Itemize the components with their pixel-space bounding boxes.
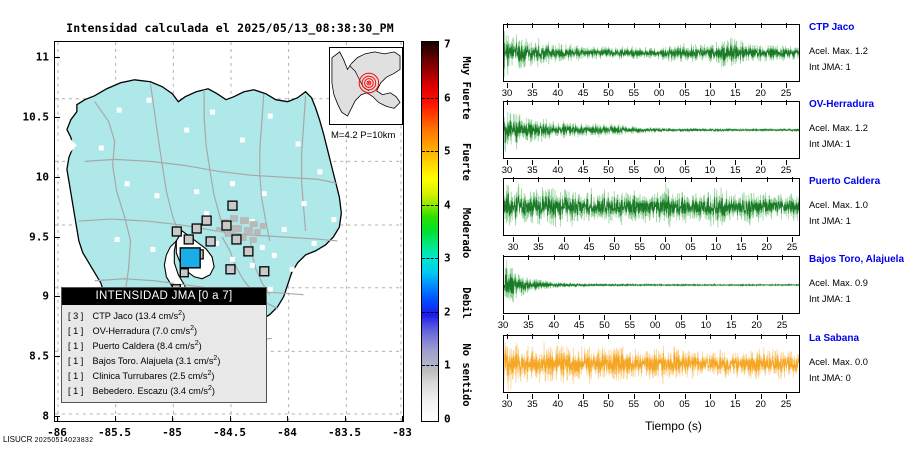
- epicenter-station-marker: [180, 248, 200, 268]
- time-tick-mark: [640, 177, 641, 182]
- legend-row: [ 1 ] Bebedero. Escazu (3.4 cm/s2): [68, 383, 260, 398]
- map-y-tick: 10.5: [23, 110, 50, 123]
- colorbar-tick-dash: [422, 205, 438, 206]
- legend-value: (3.1 cm/s: [176, 356, 214, 366]
- station-jma-intensity: Int JMA: 1: [809, 139, 851, 149]
- legend-row: [ 1 ] OV-Herradura (7.0 cm/s2): [68, 323, 260, 338]
- inset-canvas: [330, 48, 402, 124]
- map-x-tick: -85.5: [98, 426, 131, 439]
- waveform-trace: [504, 25, 799, 81]
- map-y-tick: 8: [42, 410, 49, 423]
- waveform-trace: [504, 179, 799, 235]
- time-tick-mark: [583, 23, 584, 28]
- legend-row: [ 3 ] CTP Jaco (13.4 cm/s2): [68, 308, 260, 323]
- intensity-legend: INTENSIDAD JMA [0 a 7] [ 3 ] CTP Jaco (1…: [61, 287, 267, 403]
- time-tick-label: 30: [502, 399, 513, 410]
- map-x-tick: -83.5: [328, 426, 361, 439]
- time-tick-label: 50: [603, 399, 614, 410]
- colorbar-tick: 6: [444, 91, 451, 104]
- seismogram-panel[interactable]: [503, 256, 800, 314]
- station-name[interactable]: Bajos Toro, Alajuela: [809, 254, 904, 265]
- station-max-acceleration: Acel. Max. 1.2: [809, 46, 868, 56]
- map-y-tick: 9: [42, 290, 49, 303]
- waveform-trace: [504, 102, 799, 158]
- time-axis-top: [499, 246, 796, 260]
- colorbar-tick: 1: [444, 359, 451, 372]
- station-name[interactable]: OV-Herradura: [809, 99, 874, 110]
- time-tick-mark: [608, 23, 609, 28]
- station-name[interactable]: CTP Jaco: [809, 22, 854, 33]
- legend-row: [ 1 ] Puerto Caldera (8.4 cm/s2): [68, 338, 260, 353]
- time-axis-top: [503, 325, 800, 339]
- colorbar-tick: 0: [444, 413, 451, 426]
- time-tick-mark: [757, 255, 758, 260]
- time-tick-mark: [532, 100, 533, 105]
- time-tick-mark: [665, 177, 666, 182]
- colorbar-tick-dash: [422, 98, 438, 99]
- time-tick-mark: [691, 177, 692, 182]
- time-tick-mark: [532, 23, 533, 28]
- time-tick-mark: [659, 334, 660, 339]
- time-tick-mark: [528, 255, 529, 260]
- time-tick-mark: [507, 100, 508, 105]
- station-max-acceleration: Acel. Max. 0.0: [809, 357, 868, 367]
- time-tick-mark: [630, 255, 631, 260]
- station-name[interactable]: La Sabana: [809, 333, 859, 344]
- colorbar-tick-dash: [422, 151, 438, 152]
- waveform-trace: [504, 257, 799, 313]
- legend-row: [ 1 ] Bajos Toro. Alajuela (3.1 cm/s2): [68, 353, 260, 368]
- time-tick-mark: [681, 255, 682, 260]
- waveform-trace: [504, 336, 799, 392]
- time-tick-mark: [782, 255, 783, 260]
- map-y-tick: 10: [36, 170, 49, 183]
- legend-value-tail: ): [211, 371, 214, 381]
- time-tick-mark: [583, 334, 584, 339]
- time-tick-mark: [767, 177, 768, 182]
- legend-count: [ 1 ]: [68, 370, 90, 383]
- station-max-acceleration: Acel. Max. 1.0: [809, 200, 868, 210]
- time-tick-mark: [786, 334, 787, 339]
- map-y-tick: 9.5: [29, 230, 49, 243]
- legend-station-name: Bajos Toro. Alajuela: [90, 356, 176, 366]
- page-title: Intensidad calculada el 2025/05/13_08:38…: [55, 21, 405, 35]
- colorbar-tick: 4: [444, 198, 451, 211]
- legend-count: [ 1 ]: [68, 340, 90, 353]
- time-tick-mark: [710, 100, 711, 105]
- colorbar-category: Moderado: [460, 207, 472, 258]
- time-tick-mark: [564, 177, 565, 182]
- intensity-colorbar: 76543210Muy FuerteFuerteModeradoDebilNo …: [421, 41, 439, 422]
- time-tick-label: 20: [755, 399, 766, 410]
- time-tick-mark: [786, 23, 787, 28]
- time-tick-mark: [507, 334, 508, 339]
- time-tick-mark: [659, 100, 660, 105]
- colorbar-tick: 5: [444, 145, 451, 158]
- time-tick-mark: [735, 23, 736, 28]
- time-tick-mark: [608, 334, 609, 339]
- time-tick-label: 05: [679, 399, 690, 410]
- time-tick-mark: [538, 177, 539, 182]
- legend-row: [ 1 ] Clinica Turrubares (2.5 cm/s2): [68, 368, 260, 383]
- time-axis-top: [503, 91, 800, 105]
- legend-value: (8.4 cm/s: [157, 341, 195, 351]
- time-axis-label: Tiempo (s): [645, 419, 702, 433]
- colorbar-tick: 2: [444, 305, 451, 318]
- map-x-tick: -85: [162, 426, 182, 439]
- watermark-id: 20250514023832: [35, 437, 94, 444]
- legend-header: INTENSIDAD JMA [0 a 7]: [62, 288, 266, 305]
- station-jma-intensity: Int JMA: 1: [809, 216, 851, 226]
- colorbar-category: Fuerte: [460, 143, 472, 181]
- station-jma-intensity: Int JMA: 1: [809, 294, 851, 304]
- time-tick-mark: [731, 255, 732, 260]
- time-tick-mark: [608, 100, 609, 105]
- legend-count: [ 1 ]: [68, 325, 90, 338]
- time-tick-mark: [761, 100, 762, 105]
- time-tick-label: 10: [705, 399, 716, 410]
- time-tick-mark: [634, 23, 635, 28]
- legend-value-tail: ): [212, 386, 215, 396]
- map-y-tick: 8.5: [29, 350, 49, 363]
- legend-value-tail: ): [199, 341, 202, 351]
- time-tick-label: 15: [730, 399, 741, 410]
- legend-station-name: CTP Jaco: [90, 311, 135, 321]
- intensity-map[interactable]: M=4.2 P=10km INTENSIDAD JMA [0 a 7] [ 3 …: [54, 41, 404, 422]
- time-tick-mark: [659, 23, 660, 28]
- watermark: LISUCR 20250514023832: [3, 435, 93, 444]
- legend-station-name: Clinica Turrubares: [90, 371, 170, 381]
- seismogram-panel[interactable]: [503, 178, 800, 236]
- legend-count: [ 1 ]: [68, 385, 90, 398]
- location-inset-map: [329, 47, 403, 125]
- time-tick-mark: [589, 177, 590, 182]
- time-tick-mark: [634, 100, 635, 105]
- station-max-acceleration: Acel. Max. 1.2: [809, 123, 868, 133]
- legend-value: (3.4 cm/s: [170, 386, 208, 396]
- legend-list: [ 3 ] CTP Jaco (13.4 cm/s2)[ 1 ] OV-Herr…: [62, 305, 266, 402]
- map-y-tick: 11: [36, 51, 49, 64]
- colorbar-category: Muy Fuerte: [460, 56, 472, 119]
- station-max-acceleration: Acel. Max. 0.9: [809, 278, 868, 288]
- time-tick-mark: [792, 177, 793, 182]
- colorbar-tick: 3: [444, 252, 451, 265]
- legend-value-tail: ): [182, 311, 185, 321]
- time-tick-mark: [583, 100, 584, 105]
- time-tick-label: 55: [629, 399, 640, 410]
- time-tick-label: 40: [552, 399, 563, 410]
- time-tick-mark: [735, 334, 736, 339]
- colorbar-tick-dash: [422, 312, 438, 313]
- time-tick-mark: [741, 177, 742, 182]
- seismogram-panel[interactable]: [503, 335, 800, 393]
- map-x-tick: -84: [277, 426, 297, 439]
- time-tick-mark: [634, 334, 635, 339]
- seismogram-panel[interactable]: [503, 101, 800, 159]
- time-tick-mark: [735, 100, 736, 105]
- colorbar-tick-dash: [422, 258, 438, 259]
- legend-value-tail: ): [217, 356, 220, 366]
- station-name[interactable]: Puerto Caldera: [809, 176, 880, 187]
- legend-value-tail: ): [194, 326, 197, 336]
- time-tick-mark: [558, 100, 559, 105]
- legend-value: (13.4 cm/s: [135, 311, 178, 321]
- magnitude-depth-caption: M=4.2 P=10km: [331, 130, 395, 141]
- map-x-tick: -83: [392, 426, 412, 439]
- legend-station-name: OV-Herradura: [90, 326, 152, 336]
- time-axis-top: [503, 14, 800, 28]
- time-tick-mark: [558, 23, 559, 28]
- time-axis: 303540455055000510152025: [503, 394, 800, 408]
- time-tick-label: 00: [654, 399, 665, 410]
- time-axis-top: [509, 168, 806, 182]
- colorbar-tick: 7: [444, 38, 451, 51]
- time-tick-mark: [507, 23, 508, 28]
- time-tick-mark: [513, 177, 514, 182]
- time-tick-mark: [761, 23, 762, 28]
- watermark-label: LISUCR: [3, 435, 32, 444]
- time-tick-mark: [579, 255, 580, 260]
- map-x-tick: -84.5: [213, 426, 246, 439]
- seismogram-panel[interactable]: [503, 24, 800, 82]
- legend-count: [ 1 ]: [68, 355, 90, 368]
- legend-value: (7.0 cm/s: [152, 326, 190, 336]
- time-tick-label: 25: [781, 399, 792, 410]
- time-tick-mark: [706, 255, 707, 260]
- time-tick-label: 45: [578, 399, 589, 410]
- time-tick-mark: [685, 100, 686, 105]
- colorbar-tick-dash: [422, 365, 438, 366]
- time-tick-mark: [614, 177, 615, 182]
- station-jma-intensity: Int JMA: 1: [809, 62, 851, 72]
- time-tick-mark: [655, 255, 656, 260]
- legend-station-name: Puerto Caldera: [90, 341, 157, 351]
- time-tick-mark: [710, 23, 711, 28]
- time-tick-mark: [685, 23, 686, 28]
- time-tick-mark: [685, 334, 686, 339]
- legend-station-name: Bebedero. Escazu: [90, 386, 170, 396]
- legend-value: (2.5 cm/s: [170, 371, 208, 381]
- time-tick-mark: [604, 255, 605, 260]
- time-tick-mark: [786, 100, 787, 105]
- legend-count: [ 3 ]: [68, 310, 90, 323]
- colorbar-category: No sentido: [460, 344, 472, 407]
- time-tick-label: 35: [527, 399, 538, 410]
- time-tick-mark: [558, 334, 559, 339]
- time-tick-mark: [761, 334, 762, 339]
- station-jma-intensity: Int JMA: 0: [809, 373, 851, 383]
- time-tick-mark: [503, 255, 504, 260]
- time-tick-mark: [532, 334, 533, 339]
- colorbar-category: Debil: [460, 287, 472, 319]
- time-tick-mark: [716, 177, 717, 182]
- time-tick-mark: [710, 334, 711, 339]
- time-tick-mark: [554, 255, 555, 260]
